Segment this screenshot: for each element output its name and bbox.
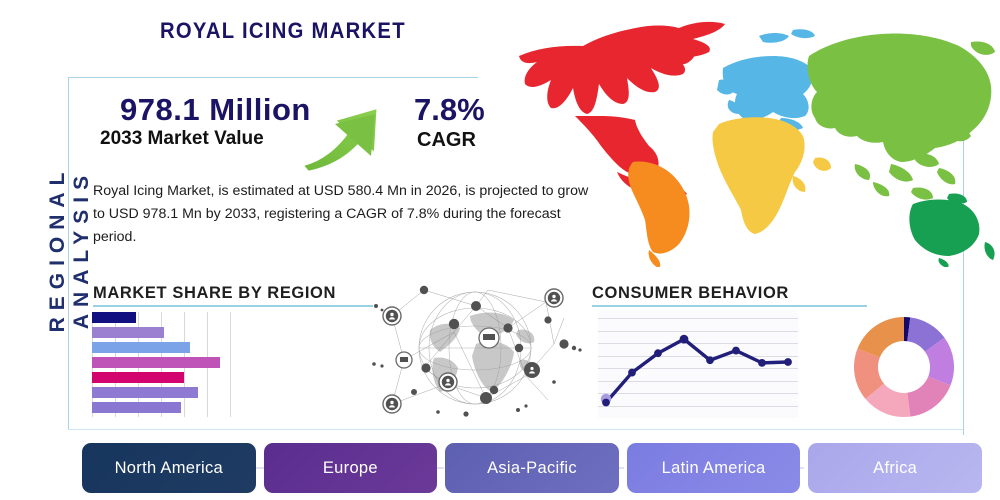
section-rule-consumer-behavior	[592, 305, 867, 307]
data-point	[784, 358, 792, 366]
table-row	[92, 372, 184, 383]
region-tabs: North America Europe Asia-Pacific Latin …	[82, 443, 982, 493]
region-tab-asia-pacific[interactable]: Asia-Pacific	[445, 443, 619, 493]
data-point	[758, 359, 766, 367]
region-tab-label: North America	[115, 459, 223, 478]
section-header-consumer-behavior: CONSUMER BEHAVIOR	[592, 284, 789, 303]
region-tab-north-america[interactable]: North America	[82, 443, 256, 493]
region-tab-europe[interactable]: Europe	[264, 443, 438, 493]
data-point	[680, 335, 689, 344]
section-rule-market-share	[93, 305, 373, 307]
table-row	[92, 387, 198, 398]
world-map-icon	[497, 12, 997, 267]
market-share-bar-chart	[92, 312, 307, 417]
page-title: ROYAL ICING MARKET	[160, 18, 406, 44]
side-label-regional-analysis: REGIONAL ANALYSIS	[46, 84, 94, 414]
market-value-figure: 978.1 Million	[120, 92, 311, 128]
data-point	[732, 347, 740, 355]
panel-border-left	[68, 77, 69, 429]
region-tab-africa[interactable]: Africa	[808, 443, 982, 493]
region-tab-label: Africa	[873, 459, 917, 478]
consumer-behavior-line-chart	[598, 310, 798, 418]
region-tab-label: Asia-Pacific	[487, 459, 577, 478]
segment-donut-chart	[852, 315, 956, 419]
region-tab-latin-america[interactable]: Latin America	[627, 443, 801, 493]
region-tab-label: Latin America	[662, 459, 766, 478]
growth-arrow-icon	[297, 84, 407, 174]
data-point	[706, 356, 714, 364]
cagr-figure: 7.8%	[414, 92, 485, 128]
data-point	[628, 369, 636, 377]
global-network-globe-icon	[368, 272, 583, 427]
table-row	[92, 357, 220, 368]
market-value-caption: 2033 Market Value	[100, 128, 264, 150]
panel-border-bottom	[68, 429, 963, 430]
cagr-caption: CAGR	[417, 129, 476, 152]
section-header-market-share: MARKET SHARE BY REGION	[93, 284, 336, 303]
table-row	[92, 402, 181, 413]
table-row	[92, 327, 164, 338]
panel-border-top	[68, 77, 478, 78]
hero-stats: 978.1 Million 2033 Market Value 7.8% CAG…	[92, 92, 512, 170]
table-row	[92, 312, 136, 323]
data-point	[602, 399, 610, 407]
table-row	[92, 342, 190, 353]
data-point	[654, 349, 662, 357]
region-tab-label: Europe	[323, 459, 378, 478]
